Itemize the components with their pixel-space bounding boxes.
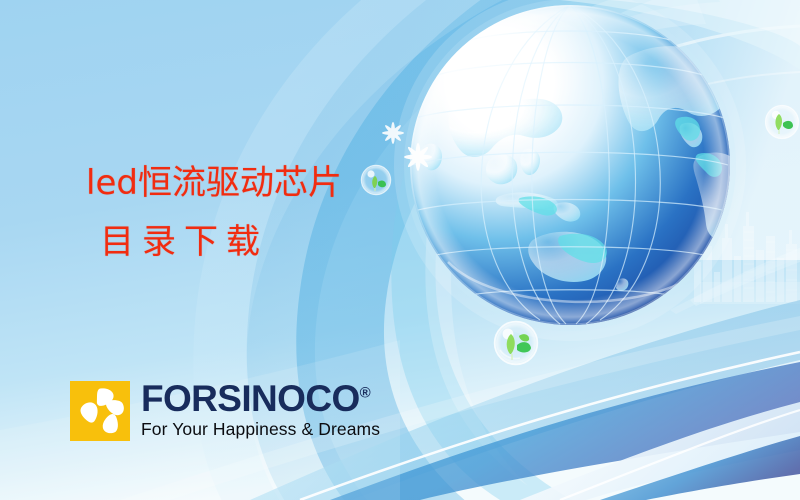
bubble-sprout-large xyxy=(494,321,538,365)
logo-wordmark: FORSINOCO® xyxy=(141,380,380,417)
registered-trademark-icon: ® xyxy=(360,385,371,402)
sparkle-star-lower xyxy=(404,143,432,171)
bubble-sprout-small xyxy=(361,165,391,195)
promo-banner: led恒流驱动芯片 目录下载 FORSINOCO® xyxy=(0,0,800,500)
brand-logo: FORSINOCO® For Your Happiness & Dreams xyxy=(70,381,380,441)
forsinoco-pinwheel-mark-icon xyxy=(70,381,130,441)
logo-tagline: For Your Happiness & Dreams xyxy=(141,421,380,439)
bubble-sprout-corner xyxy=(765,105,799,139)
logo-wordmark-text: FORSINOCO xyxy=(141,378,360,419)
sparkle-star-upper xyxy=(382,122,404,144)
logo-text-block: FORSINOCO® For Your Happiness & Dreams xyxy=(141,380,380,439)
